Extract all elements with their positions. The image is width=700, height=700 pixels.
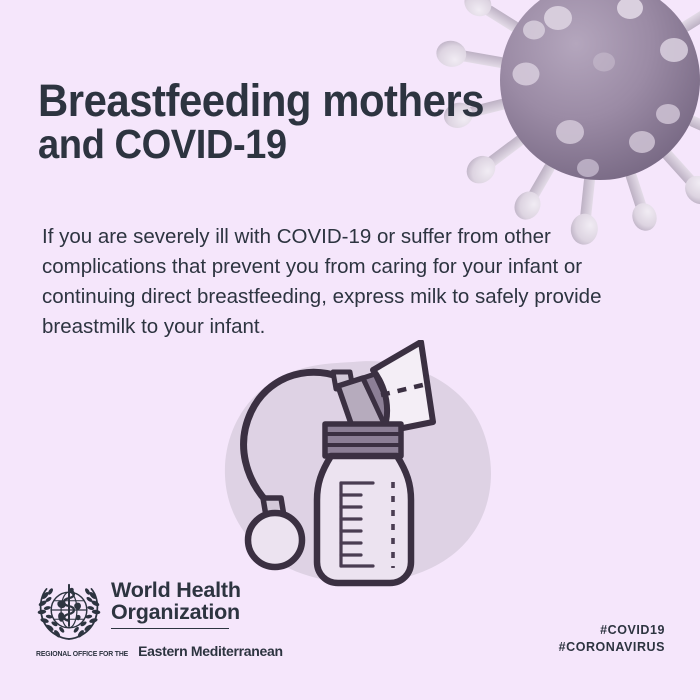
body-copy: If you are severely ill with COVID-19 or… xyxy=(42,222,632,343)
page-title: Breastfeeding mothers and COVID-19 xyxy=(38,79,598,164)
headline-line-2: and COVID-19 xyxy=(38,125,559,165)
bottle-body xyxy=(317,456,411,583)
hashtags: #COVID19 #CORONAVIRUS xyxy=(559,622,665,655)
hashtag-covid19: #COVID19 xyxy=(559,622,665,639)
who-organization-name: World Health Organization xyxy=(111,579,241,624)
who-regional-office-line: REGIONAL OFFICE FOR THE Eastern Mediterr… xyxy=(36,643,283,659)
who-name-line-2: Organization xyxy=(111,601,241,623)
pump-bulb xyxy=(248,513,302,567)
body-paragraph: If you are severely ill with COVID-19 or… xyxy=(42,222,632,343)
who-region-name: Eastern Mediterranean xyxy=(138,643,283,659)
breast-pump-icon xyxy=(205,340,505,595)
hashtag-coronavirus: #CORONAVIRUS xyxy=(559,639,665,656)
who-logo: World Health Organization xyxy=(36,576,241,643)
who-emblem-icon xyxy=(36,577,102,643)
poster-canvas: Breastfeeding mothers and COVID-19 If yo… xyxy=(0,0,700,700)
bottle-collar xyxy=(325,424,401,456)
who-region-prefix: REGIONAL OFFICE FOR THE xyxy=(36,649,128,658)
who-divider-rule xyxy=(111,628,229,629)
headline-line-1: Breastfeeding mothers xyxy=(38,79,559,123)
who-text-block: World Health Organization xyxy=(111,576,241,629)
who-name-line-1: World Health xyxy=(111,579,241,601)
